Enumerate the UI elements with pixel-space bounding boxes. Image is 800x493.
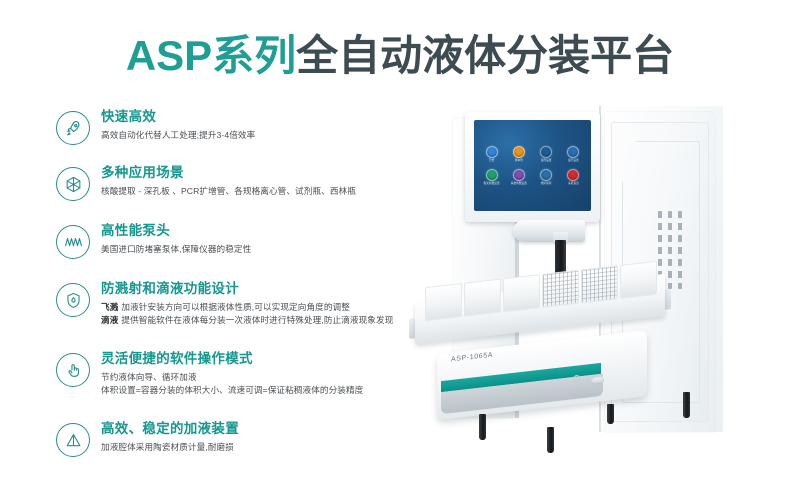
screen-app-label: 运行设置	[562, 160, 584, 163]
feature-line: 高效自动化代替人工处理;提升3-4倍效率	[101, 129, 416, 141]
screen-icon-row: 开始 样本管 试剂设置 运行设置	[474, 143, 591, 166]
feature-heading: 灵活便捷的软件操作模式	[101, 351, 416, 368]
screen-icon-row: 板架参数设置 系统参数设置 维护保养 关机退出	[474, 166, 591, 189]
feature-item-speed: 快速高效 高效自动化代替人工处理;提升3-4倍效率	[56, 108, 416, 156]
screen-app-label: 样本管	[508, 160, 530, 163]
screen-app-rack[interactable]: 板架参数设置	[481, 169, 503, 186]
machine-foot	[683, 392, 690, 418]
machine-foot	[547, 427, 554, 453]
feature-item-dispenser: 高效、稳定的加液装置 加液腔体采用陶瓷材质计量,耐磨损	[56, 420, 416, 466]
feature-line-label: 滴液	[101, 315, 118, 325]
start-icon	[486, 146, 498, 158]
plate-block	[620, 261, 657, 299]
feature-line-text: 加液针安装方向可以根据液体性质,可以实现定向角度的调整	[121, 302, 350, 312]
search-icon	[567, 146, 579, 158]
feature-heading: 高效、稳定的加液装置	[101, 421, 416, 438]
product-illustration: 开始 样本管 试剂设置 运行设置	[395, 92, 795, 472]
feature-item-antisplash: 防溅射和滴液功能设计 飞溅加液针安装方向可以根据液体性质,可以实现定向角度的调整…	[56, 280, 416, 342]
feature-heading: 多种应用场景	[101, 165, 416, 182]
hand-touch-icon	[56, 353, 90, 387]
page-title-rest: 全自动液体分装平台	[296, 32, 674, 79]
dispensing-arm	[513, 220, 585, 242]
feature-line: 节约液体向导、循环加液	[101, 371, 416, 383]
feature-text: 快速高效 高效自动化代替人工处理;提升3-4倍效率	[101, 108, 416, 141]
cube-icon	[56, 167, 90, 201]
maintain-icon	[540, 169, 552, 181]
screen-app-maintain[interactable]: 维护保养	[535, 169, 557, 186]
feature-line: 美国进口防堵塞泵体,保障仪器的稳定性	[101, 243, 416, 255]
feature-line: 加液腔体采用陶瓷材质计量,耐磨损	[101, 441, 416, 453]
screen-app-sample[interactable]: 样本管	[508, 146, 530, 163]
screen-app-reagent[interactable]: 试剂设置	[535, 146, 557, 163]
feature-text: 灵活便捷的软件操作模式 节约液体向导、循环加液 体积设置=容器分装的体积大小、流…	[101, 350, 416, 397]
product-poster: ASP系列全自动液体分装平台 快速高效 高效自动化代替人工处理;提升3-4倍效率	[0, 0, 800, 493]
wave-icon	[56, 225, 90, 259]
feature-heading: 高性能泵头	[101, 223, 416, 240]
page-title-highlight: ASP系列	[126, 32, 296, 79]
deep-well-plate	[581, 265, 618, 303]
shield-drop-icon	[56, 283, 90, 317]
screen-app-power[interactable]: 关机退出	[562, 169, 584, 186]
screen-app-label: 系统参数设置	[508, 183, 530, 186]
feature-text: 防溅射和滴液功能设计 飞溅加液针安装方向可以根据液体性质,可以实现定向角度的调整…	[101, 280, 416, 327]
plate-block	[464, 279, 501, 317]
feature-line-text: 提供智能软件在液体每分装一次液体时进行特殊处理,防止滴液现象发现	[121, 315, 393, 325]
config-icon	[513, 169, 525, 181]
feature-line: 飞溅加液针安装方向可以根据液体性质,可以实现定向角度的调整	[101, 301, 416, 313]
screen-app-label: 板架参数设置	[481, 183, 503, 186]
machine-foot	[607, 404, 614, 424]
feature-line-label: 飞溅	[101, 302, 118, 312]
feature-line: 体积设置=容器分装的体积大小、流速可调=保证粘稠液体的分装精度	[101, 384, 416, 396]
touchscreen-display[interactable]: 开始 样本管 试剂设置 运行设置	[474, 120, 591, 211]
plate-block	[503, 274, 540, 312]
feature-text: 多种应用场景 核酸提取 - 深孔板 、PCR扩增管、各规格离心管、试剂瓶、西林瓶	[101, 164, 416, 197]
screen-app-label: 维护保养	[535, 183, 557, 186]
screen-app-label: 试剂设置	[535, 160, 557, 163]
feature-item-software: 灵活便捷的软件操作模式 节约液体向导、循环加液 体积设置=容器分装的体积大小、流…	[56, 350, 416, 412]
screen-app-label: 开始	[481, 160, 503, 163]
triangle-icon	[56, 423, 90, 457]
rocket-icon	[56, 111, 90, 145]
add-icon	[486, 169, 498, 181]
machine-foot	[479, 414, 486, 440]
feature-text: 高性能泵头 美国进口防堵塞泵体,保障仪器的稳定性	[101, 222, 416, 255]
feature-line: 滴液提供智能软件在液体每分装一次液体时进行特殊处理,防止滴液现象发现	[101, 314, 416, 326]
plate-block	[425, 283, 462, 321]
feature-item-applications: 多种应用场景 核酸提取 - 深孔板 、PCR扩增管、各规格离心管、试剂瓶、西林瓶	[56, 164, 416, 214]
reagent-icon	[540, 146, 552, 158]
page-title: ASP系列全自动液体分装平台	[0, 33, 800, 79]
touchscreen-bezel: 开始 样本管 试剂设置 运行设置	[465, 112, 600, 222]
deep-well-plate	[542, 270, 579, 308]
feature-list: 快速高效 高效自动化代替人工处理;提升3-4倍效率 多种应用场景 核酸提取 - …	[56, 108, 416, 474]
screen-app-start[interactable]: 开始	[481, 146, 503, 163]
feature-heading: 快速高效	[101, 109, 416, 126]
feature-item-pump: 高性能泵头 美国进口防堵塞泵体,保障仪器的稳定性	[56, 222, 416, 272]
screen-app-system[interactable]: 系统参数设置	[508, 169, 530, 186]
power-icon	[567, 169, 579, 181]
feature-line: 核酸提取 - 深孔板 、PCR扩增管、各规格离心管、试剂瓶、西林瓶	[101, 185, 416, 197]
screen-app-run[interactable]: 运行设置	[562, 146, 584, 163]
screen-app-label: 关机退出	[562, 183, 584, 186]
sample-icon	[513, 146, 525, 158]
feature-text: 高效、稳定的加液装置 加液腔体采用陶瓷材质计量,耐磨损	[101, 420, 416, 453]
feature-heading: 防溅射和滴液功能设计	[101, 281, 416, 298]
